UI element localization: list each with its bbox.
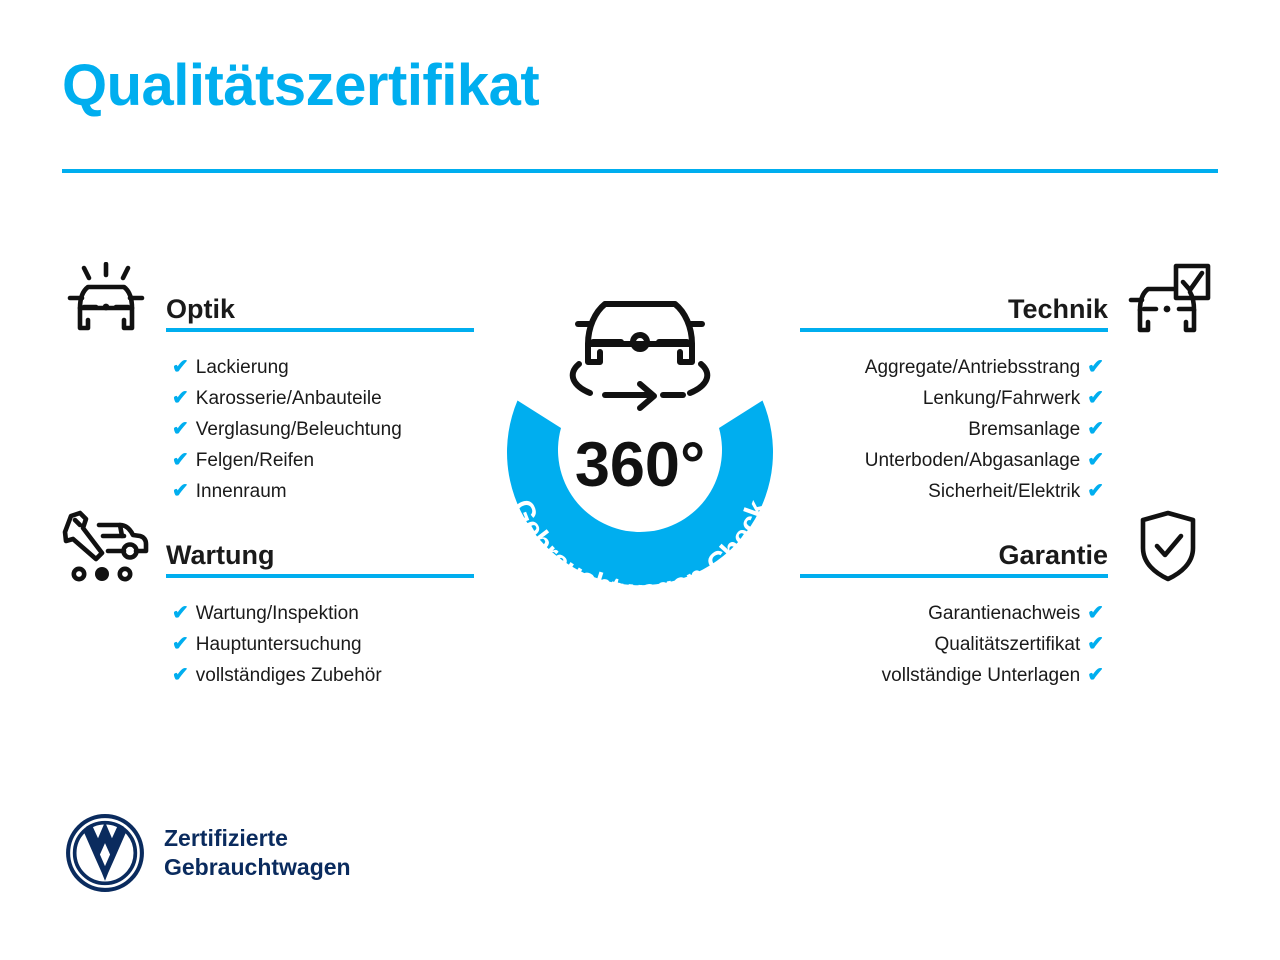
volkswagen-logo	[64, 812, 146, 894]
list-item: ✔Lackierung	[62, 352, 474, 383]
badge-center-value: 360°	[575, 430, 705, 500]
car-shine-icon	[62, 262, 150, 340]
list-item-label: Hauptuntersuchung	[196, 634, 362, 655]
section-title: Wartung	[166, 508, 474, 569]
list-item-label: Bremsanlage	[968, 419, 1080, 440]
check-icon: ✔	[172, 629, 189, 659]
list-item-label: Lenkung/Fahrwerk	[923, 388, 1080, 409]
checklist-optik: ✔Lackierung ✔Karosserie/Anbauteile ✔Verg…	[62, 352, 474, 507]
section-header-technik: Technik	[800, 262, 1212, 340]
list-item-label: Qualitätszertifikat	[935, 634, 1081, 655]
list-item: ✔vollständiges Zubehör	[62, 660, 474, 691]
list-item: ✔Hauptuntersuchung	[62, 629, 474, 660]
checklist-wartung: ✔Wartung/Inspektion ✔Hauptuntersuchung ✔…	[62, 598, 474, 691]
check-icon: ✔	[1087, 660, 1104, 690]
section-header-wartung: Wartung	[62, 508, 474, 586]
list-item-label: vollständige Unterlagen	[882, 665, 1081, 686]
section-title: Optik	[166, 262, 474, 323]
check-icon: ✔	[172, 414, 189, 444]
section-title: Technik	[800, 262, 1108, 323]
section-rule	[800, 574, 1108, 578]
list-item: ✔Felgen/Reifen	[62, 445, 474, 476]
check-icon: ✔	[1087, 445, 1104, 475]
check-icon: ✔	[172, 598, 189, 628]
car-checkbox-icon	[1124, 262, 1212, 340]
check-icon: ✔	[1087, 476, 1104, 506]
list-item-label: Wartung/Inspektion	[196, 603, 359, 624]
check-icon: ✔	[172, 352, 189, 382]
check-icon: ✔	[1087, 629, 1104, 659]
check-icon: ✔	[1087, 598, 1104, 628]
list-item-label: Felgen/Reifen	[196, 450, 314, 471]
footer-label: Zertifizierte Gebrauchtwagen	[164, 824, 351, 883]
check-icon: ✔	[172, 383, 189, 413]
list-item-label: Lackierung	[196, 357, 289, 378]
list-item-label: Aggregate/Antriebsstrang	[865, 357, 1080, 378]
car-service-tool-icon	[62, 508, 150, 586]
certificate-page: Qualitätszertifikat Optik	[0, 0, 1280, 960]
list-item: Sicherheit/Elektrik✔	[800, 476, 1212, 507]
list-item: Aggregate/Antriebsstrang✔	[800, 352, 1212, 383]
section-technik: Technik Aggregate/Antriebsstrang✔ Lenkun…	[800, 262, 1212, 507]
section-rule	[166, 574, 474, 578]
check-icon: ✔	[1087, 352, 1104, 382]
list-item-label: Sicherheit/Elektrik	[928, 481, 1080, 502]
list-item: Unterboden/Abgasanlage✔	[800, 445, 1212, 476]
title-divider	[62, 169, 1218, 173]
checklist-garantie: Garantienachweis✔ Qualitätszertifikat✔ v…	[800, 598, 1212, 691]
check-icon: ✔	[172, 445, 189, 475]
list-item: vollständige Unterlagen✔	[800, 660, 1212, 691]
gebrauchtwagen-check-badge: Gebrauchtwagen-Check 360°	[455, 252, 825, 642]
footer-logo: Zertifizierte Gebrauchtwagen	[64, 812, 351, 894]
list-item: Qualitätszertifikat✔	[800, 629, 1212, 660]
car-rotate-icon	[573, 304, 708, 408]
section-header-optik: Optik	[62, 262, 474, 340]
section-optik: Optik ✔Lackierung ✔Karosserie/Anbauteile…	[62, 262, 474, 507]
checklist-technik: Aggregate/Antriebsstrang✔ Lenkung/Fahrwe…	[800, 352, 1212, 507]
list-item-label: Innenraum	[196, 481, 287, 502]
section-garantie: Garantie Garantienachweis✔ Qualitätszert…	[800, 508, 1212, 691]
list-item: Garantienachweis✔	[800, 598, 1212, 629]
list-item: Bremsanlage✔	[800, 414, 1212, 445]
section-header-garantie: Garantie	[800, 508, 1212, 586]
list-item-label: Garantienachweis	[928, 603, 1080, 624]
section-rule	[166, 328, 474, 332]
check-icon: ✔	[172, 660, 189, 690]
list-item: Lenkung/Fahrwerk✔	[800, 383, 1212, 414]
list-item: ✔Karosserie/Anbauteile	[62, 383, 474, 414]
shield-check-icon	[1124, 508, 1212, 586]
page-title: Qualitätszertifikat	[62, 56, 539, 117]
list-item-label: Unterboden/Abgasanlage	[865, 450, 1081, 471]
list-item-label: Verglasung/Beleuchtung	[196, 419, 402, 440]
list-item: ✔Wartung/Inspektion	[62, 598, 474, 629]
list-item: ✔Innenraum	[62, 476, 474, 507]
check-icon: ✔	[172, 476, 189, 506]
list-item-label: vollständiges Zubehör	[196, 665, 382, 686]
check-icon: ✔	[1087, 383, 1104, 413]
check-icon: ✔	[1087, 414, 1104, 444]
section-wartung: Wartung ✔Wartung/Inspektion ✔Hauptunters…	[62, 508, 474, 691]
list-item: ✔Verglasung/Beleuchtung	[62, 414, 474, 445]
section-title: Garantie	[800, 508, 1108, 569]
section-rule	[800, 328, 1108, 332]
list-item-label: Karosserie/Anbauteile	[196, 388, 382, 409]
